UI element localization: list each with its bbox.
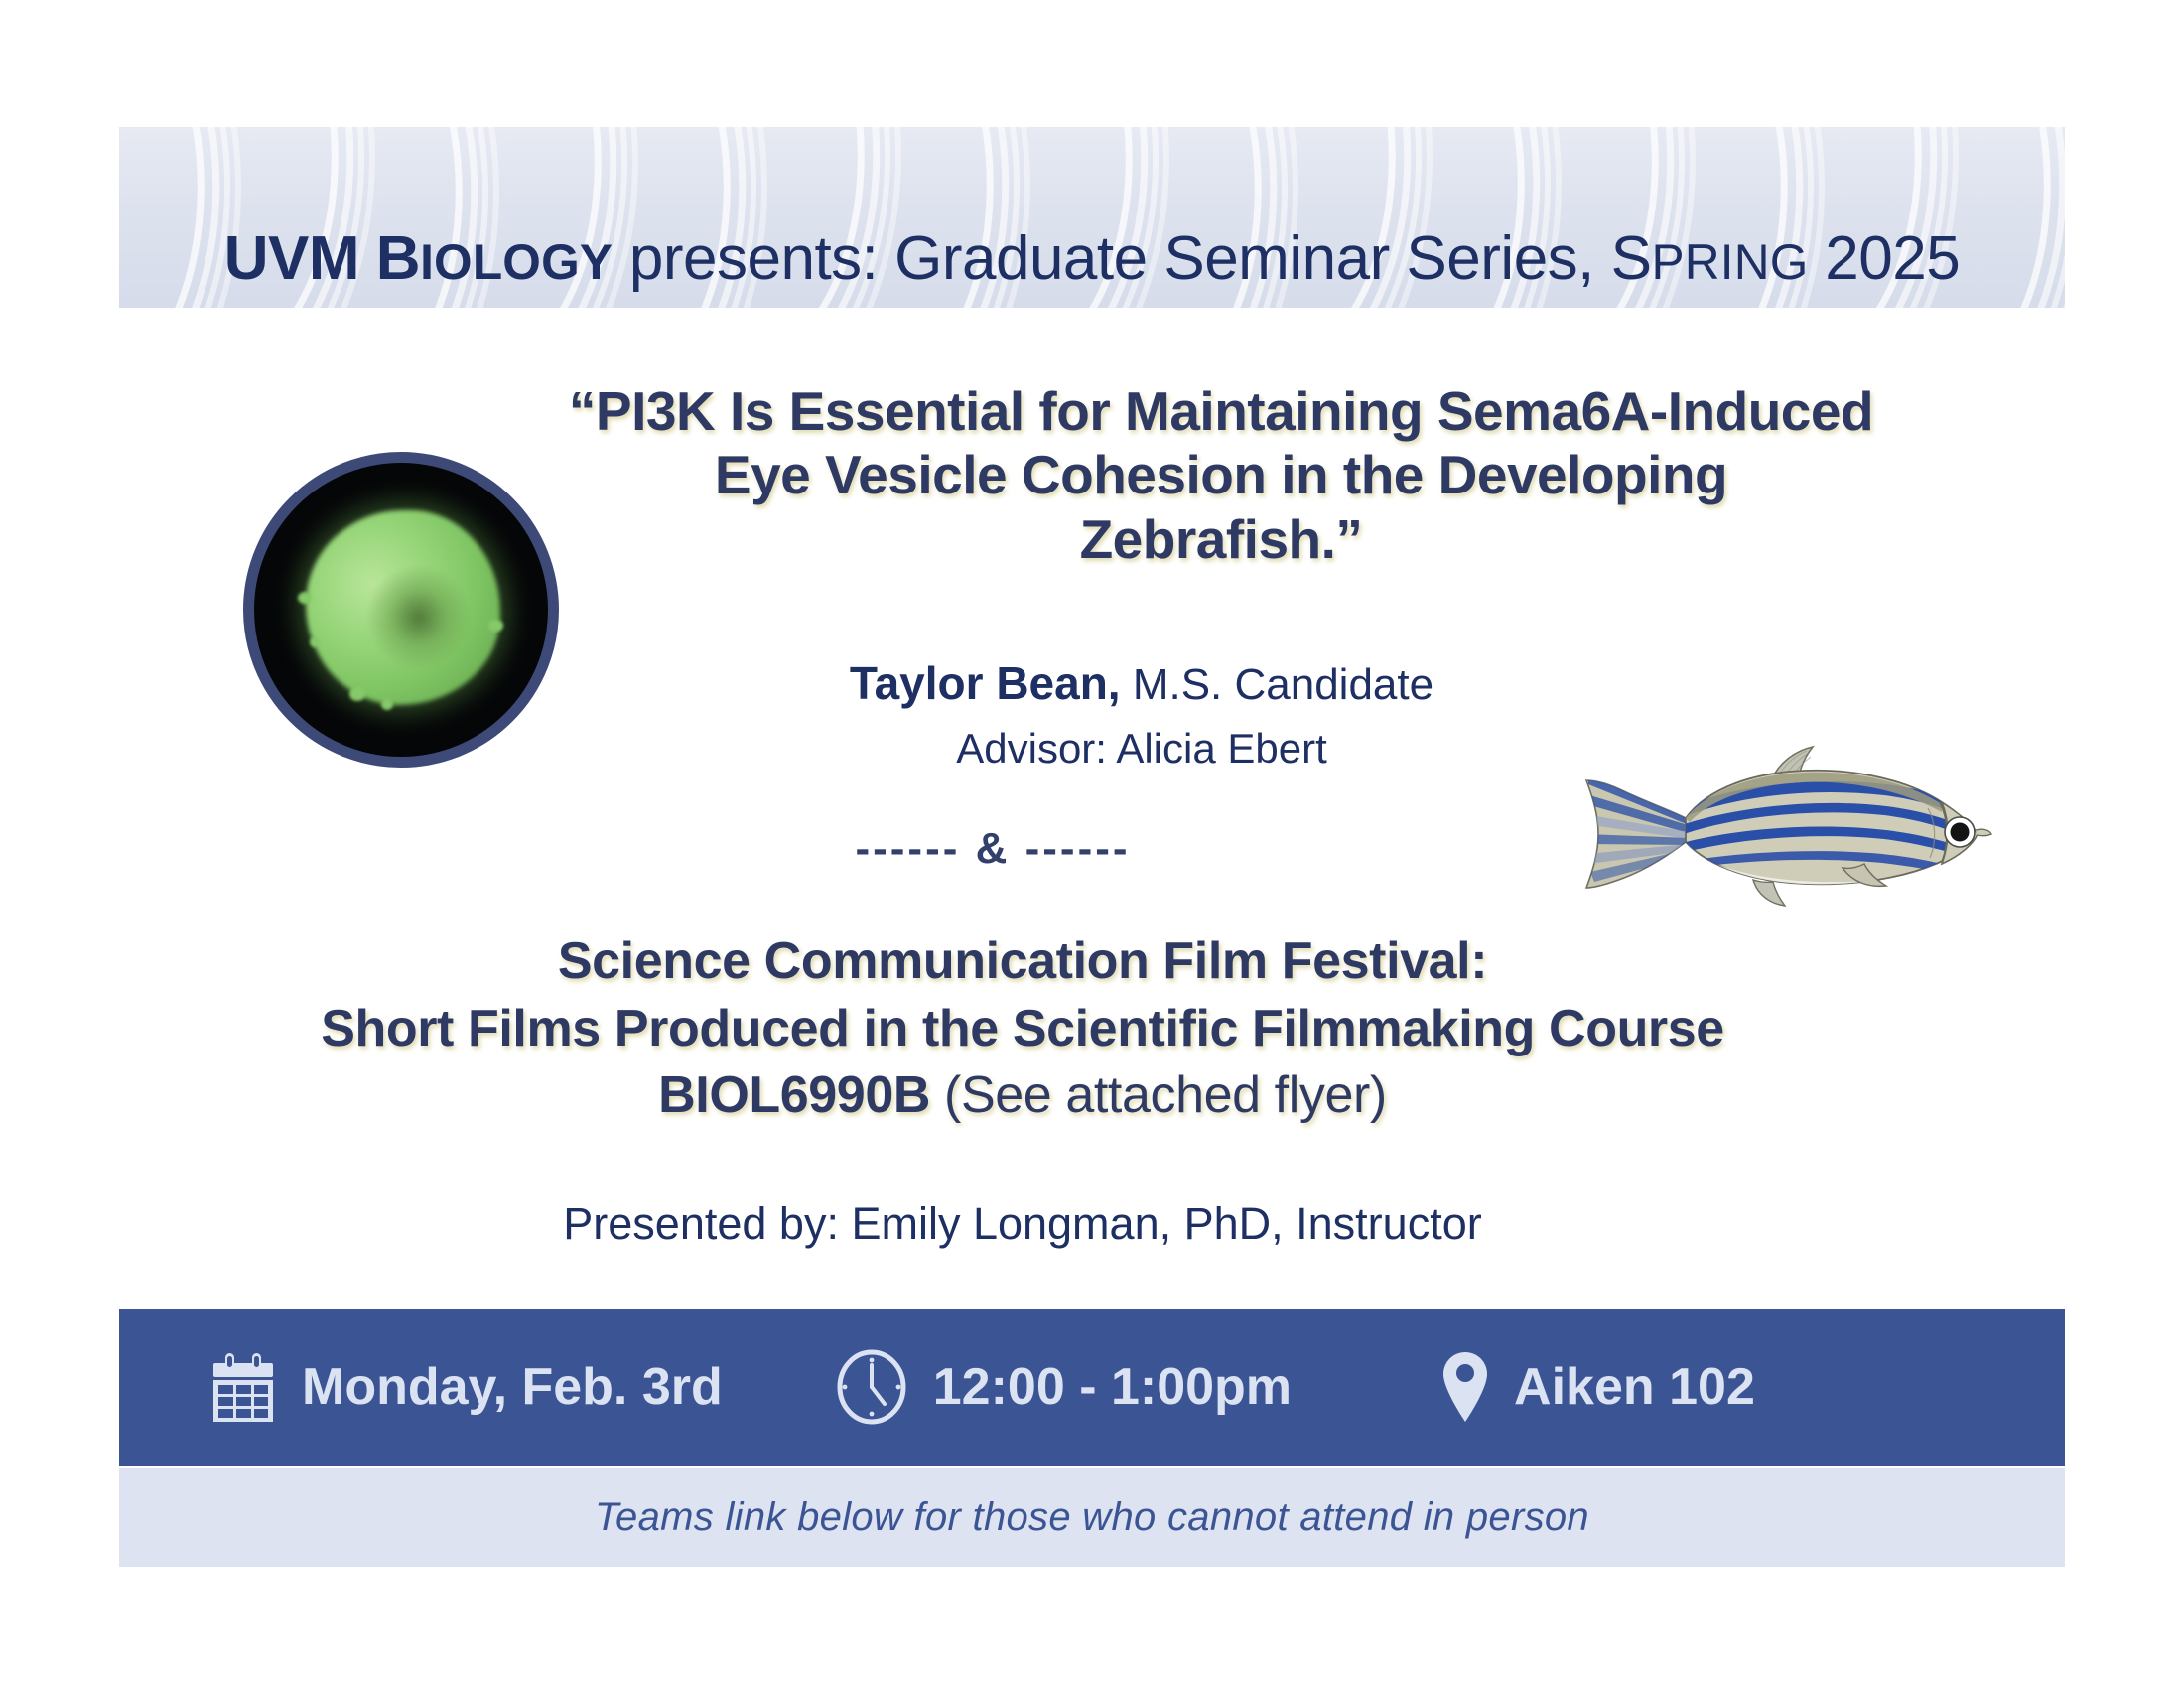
ampersand-divider: ------ & ------ (814, 824, 1171, 874)
clock-icon (834, 1348, 909, 1426)
map-pin-icon (1440, 1349, 1490, 1425)
detail-date: Monday, Feb. 3rd (208, 1350, 723, 1424)
header-season: S (1611, 224, 1652, 293)
festival-line-1: Science Communication Film Festival: (129, 928, 1916, 996)
header-org-smallcaps: IOLOGY (420, 234, 613, 290)
talk-title-line-2: Eye Vesicle Cohesion in the Developing (477, 443, 1966, 506)
flyer-page: UVM BIOLOGY presents: Graduate Seminar S… (0, 0, 2184, 1688)
festival-course-line: BIOL6990B (See attached flyer) (129, 1062, 1916, 1130)
talk-title-line-1: “PI3K Is Essential for Maintaining Sema6… (477, 379, 1966, 443)
header-year: 2025 (1809, 224, 1961, 293)
teams-note-text: Teams link below for those who cannot at… (595, 1495, 1589, 1540)
zebrafish-eye (1945, 817, 1975, 847)
speaker-line: Taylor Bean, M.S. Candidate (615, 657, 1668, 711)
zebrafish-tail-fin (1584, 774, 1692, 888)
talk-title: “PI3K Is Essential for Maintaining Sema6… (477, 379, 1966, 571)
header-band: UVM BIOLOGY presents: Graduate Seminar S… (119, 127, 2065, 308)
micrograph-speck (349, 687, 365, 701)
zebrafish-mouth (1976, 829, 1991, 835)
course-code: BIOL6990B (658, 1066, 930, 1124)
detail-location-label: Aiken 102 (1514, 1357, 1755, 1417)
event-details-bar: Monday, Feb. 3rd 12:00 - 1:00pm (119, 1309, 2065, 1466)
advisor-line: Advisor: Alicia Ebert (615, 725, 1668, 773)
speaker-name: Taylor Bean, (850, 657, 1121, 709)
zebrafish-illustration (1559, 723, 2005, 912)
course-note: (See attached flyer) (930, 1066, 1387, 1124)
detail-time: 12:00 - 1:00pm (834, 1348, 1292, 1426)
teams-note-bar: Teams link below for those who cannot at… (119, 1468, 2065, 1567)
micrograph-speck (381, 699, 393, 710)
talk-title-line-3: Zebrafish.” (477, 507, 1966, 571)
detail-date-label: Monday, Feb. 3rd (302, 1357, 723, 1417)
header-season-smallcaps: PRING (1651, 234, 1808, 290)
micrograph-speck (488, 620, 503, 632)
micrograph-speck (298, 592, 312, 604)
festival-line-2: Short Films Produced in the Scientific F… (129, 996, 1916, 1063)
festival-section: Science Communication Film Festival: Sho… (129, 928, 1916, 1130)
speaker-role: M.S. Candidate (1121, 660, 1434, 709)
presented-by-line: Presented by: Emily Longman, PhD, Instru… (129, 1197, 1916, 1251)
detail-time-label: 12:00 - 1:00pm (933, 1357, 1292, 1417)
zebrafish-anal-fin (1753, 880, 1785, 906)
detail-location: Aiken 102 (1440, 1349, 1755, 1425)
header-org: UVM B (224, 224, 420, 293)
header-middle: presents: Graduate Seminar Series, (613, 224, 1610, 293)
micrograph-speck (310, 637, 320, 647)
calendar-icon (208, 1350, 278, 1424)
header-title: UVM BIOLOGY presents: Graduate Seminar S… (119, 228, 2065, 290)
micrograph-embryo (306, 510, 500, 705)
